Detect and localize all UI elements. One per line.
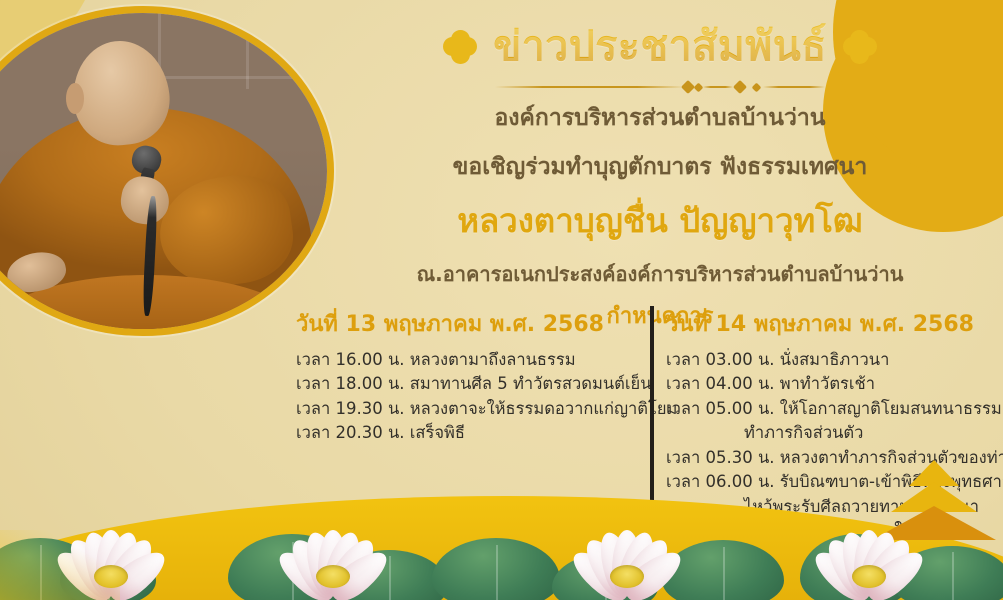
monk-ear — [66, 83, 84, 115]
lotus-flower-icon — [806, 508, 932, 600]
ornamental-divider-icon — [495, 80, 825, 94]
schedule-item: เวลา 20.30 น. เสร็จพิธี — [296, 421, 628, 444]
announcement-poster: ข่าวประชาสัมพันธ์ องค์การบริหารส่วนตำบลบ… — [0, 0, 1003, 600]
schedule-item: เวลา 16.00 น. หลวงตามาถึงลานธรรม — [296, 348, 628, 371]
wall-seam-icon — [143, 76, 327, 79]
poster-header: ข่าวประชาสัมพันธ์ องค์การบริหารส่วนตำบลบ… — [330, 14, 990, 333]
quatrefoil-ornament-right-icon — [843, 30, 877, 64]
monk-portrait-photo — [0, 13, 327, 329]
lotus-seedpod — [316, 565, 350, 588]
schedule-item: เวลา 03.00 น. นั่งสมาธิภาวนา — [666, 348, 996, 371]
page-title: ข่าวประชาสัมพันธ์ — [493, 14, 827, 79]
lotus-seedpod — [610, 565, 644, 588]
day2-title: วันที่ 14 พฤษภาคม พ.ศ. 2568 — [666, 306, 996, 341]
day1-title: วันที่ 13 พฤษภาคม พ.ศ. 2568 — [296, 306, 628, 341]
schedule-item: เวลา 18.00 น. สมาทานศีล 5 ทำวัตรสวดมนต์เ… — [296, 372, 628, 395]
schedule-item: เวลา 05.00 น. ให้โอกาสญาติโยมสนทนาธรรมแล… — [666, 397, 996, 420]
venue-text: ณ.อาคารอเนกประสงค์องค์การบริหารส่วนตำบลบ… — [330, 258, 990, 290]
bottom-left-corner-glow — [0, 530, 120, 600]
wall-seam-icon — [0, 32, 40, 35]
monk-portrait-frame — [0, 6, 334, 336]
lotus-flower-icon — [564, 508, 690, 600]
lotus-seedpod — [852, 565, 886, 588]
organization-name: องค์การบริหารส่วนตำบลบ้านว่าน — [330, 100, 990, 136]
monk-name: หลวงตาบุญชื่น ปัญญาวุทโฒ — [330, 194, 990, 247]
schedule-item-continuation: ทำภารกิจส่วนตัว — [666, 421, 996, 444]
quatrefoil-ornament-left-icon — [443, 30, 477, 64]
schedule-item: เวลา 04.00 น. พาทำวัตรเช้า — [666, 372, 996, 395]
lotus-flower-icon — [270, 508, 396, 600]
title-row: ข่าวประชาสัมพันธ์ — [330, 14, 990, 79]
schedule-item: เวลา 19.30 น. หลวงตาจะให้ธรรมดอวากแก่ญาต… — [296, 397, 628, 420]
invitation-text: ขอเชิญร่วมทำบุญตักบาตร ฟังธรรมเทศนา — [330, 149, 990, 185]
